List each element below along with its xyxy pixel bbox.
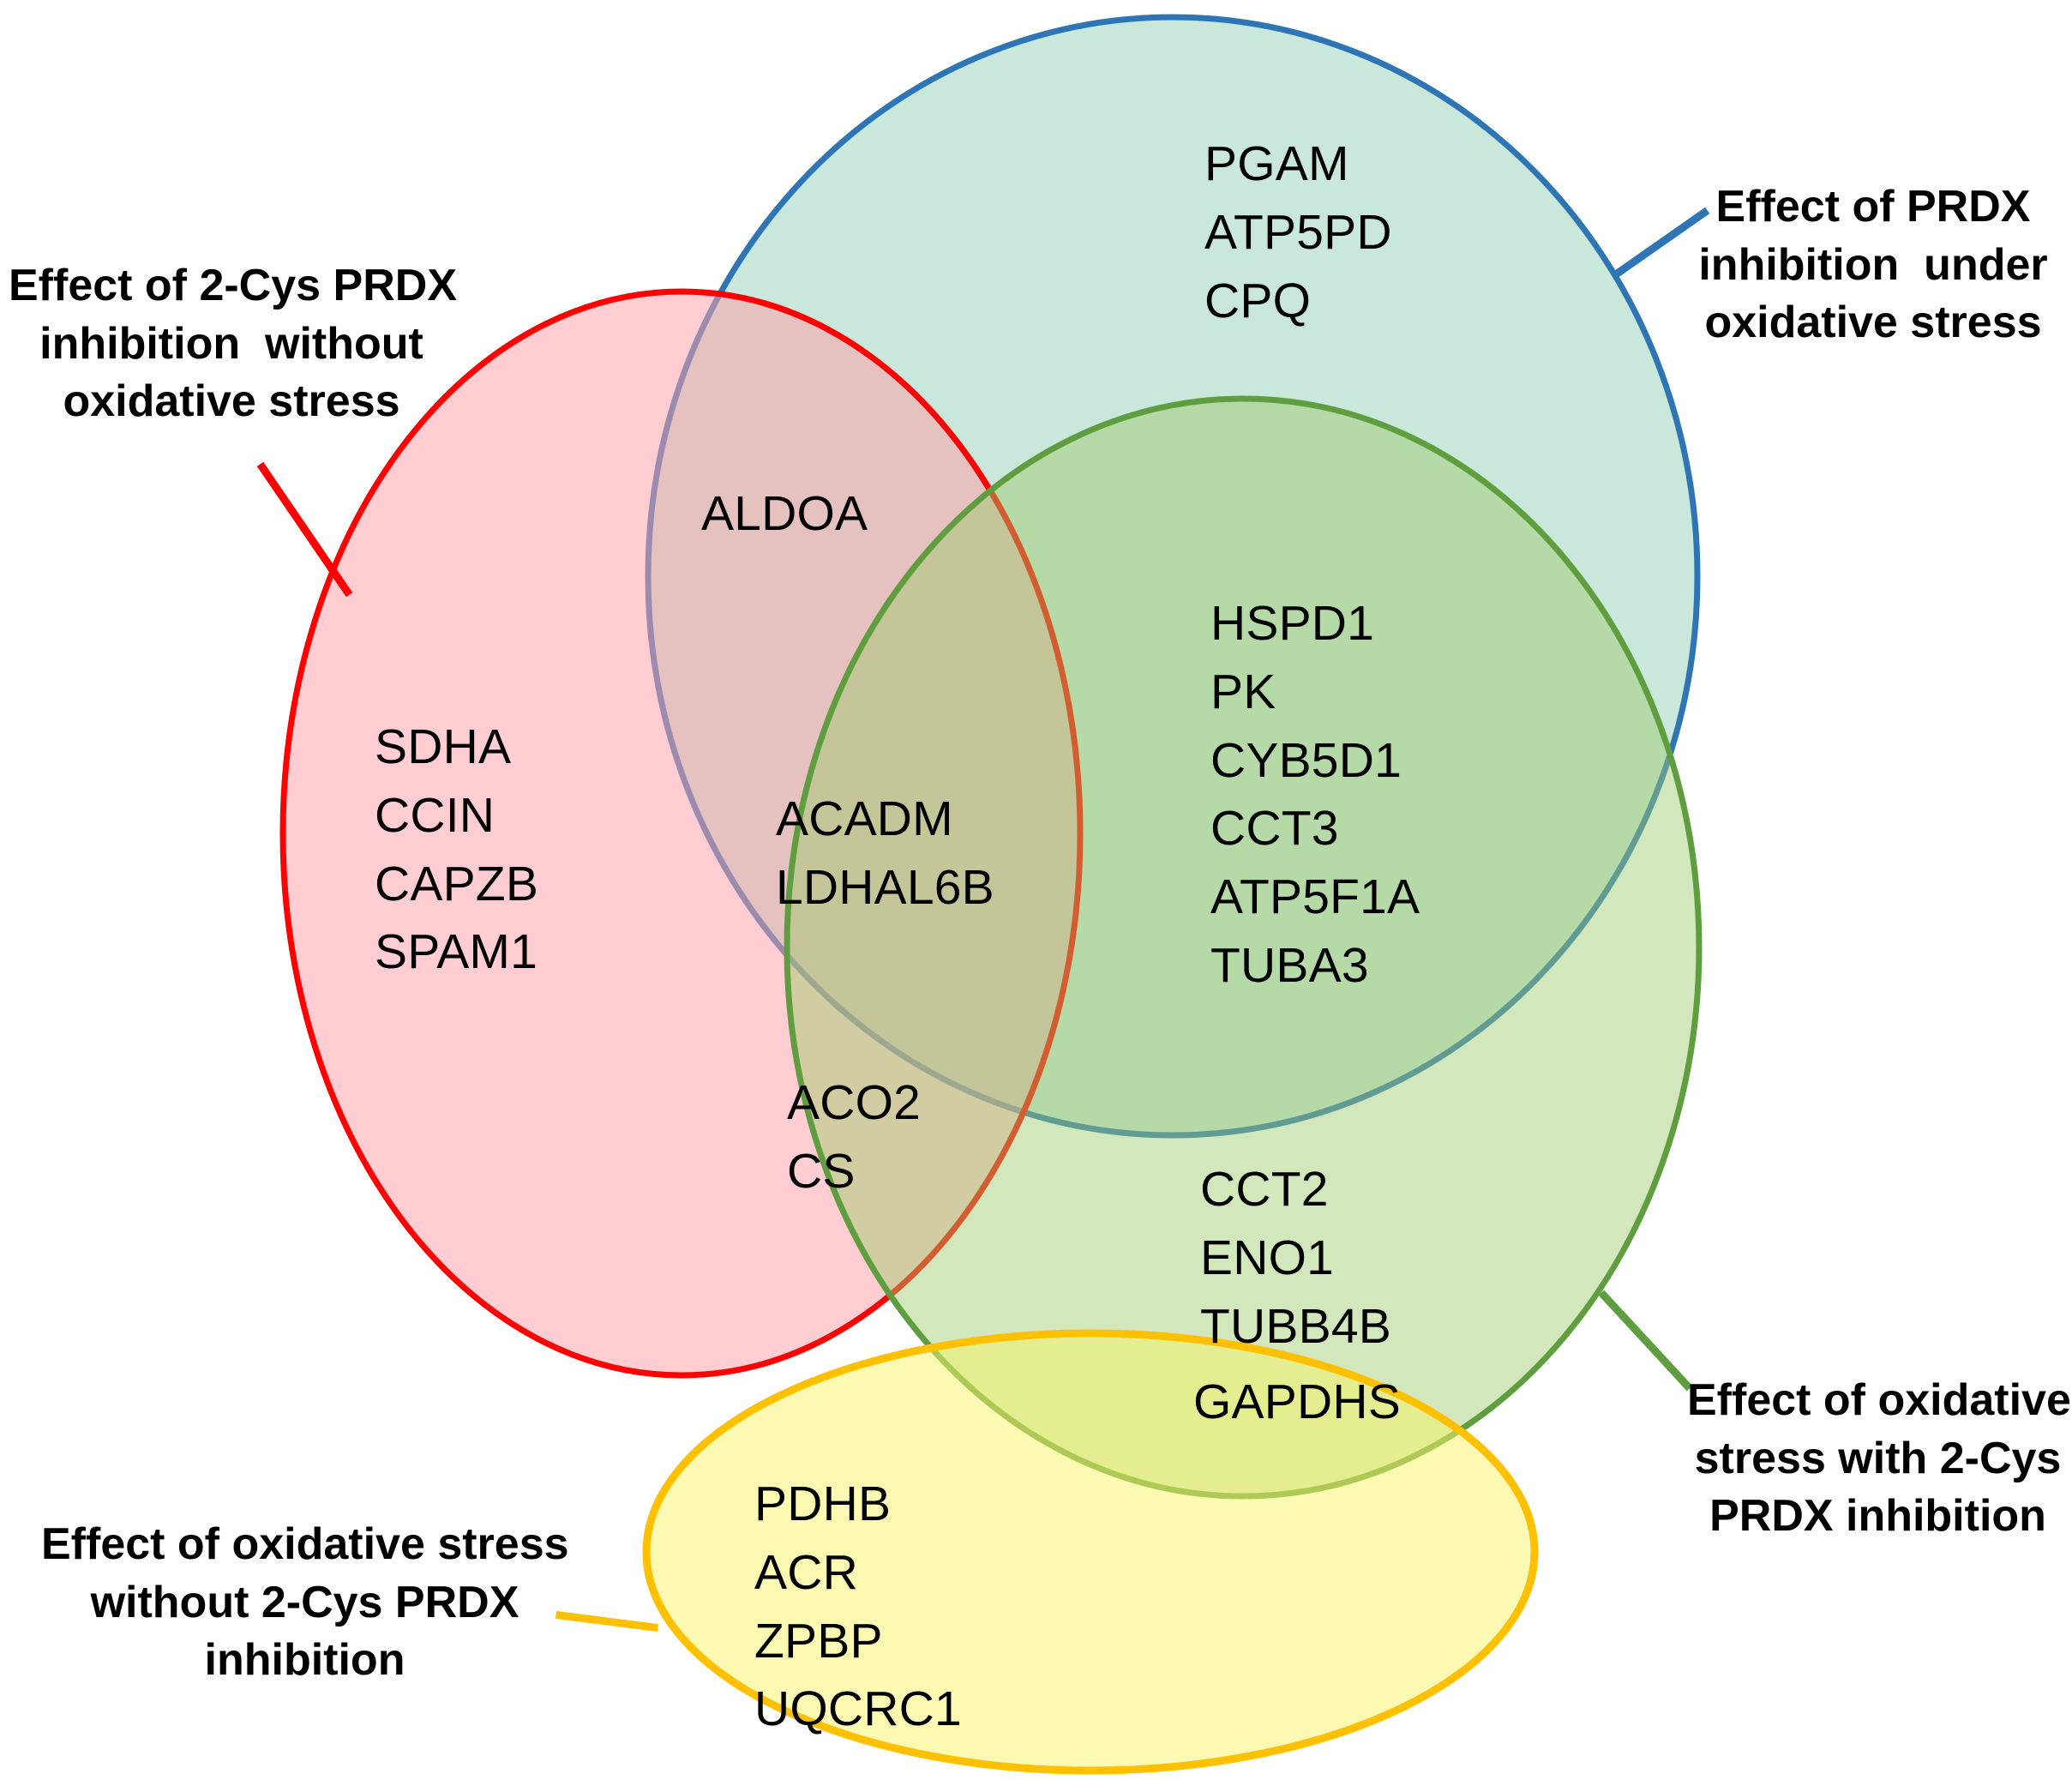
callout-label-red: Effect of 2-Cys PRDX inhibition without … bbox=[9, 257, 454, 431]
callout-label-blue: Effect of PRDX inhibition under oxidativ… bbox=[1680, 178, 2066, 352]
region-genes-red-only: SDHA CCIN CAPZB SPAM1 bbox=[375, 713, 538, 987]
venn-diagram-figure: PGAM ATP5PD CPQ SDHA CCIN CAPZB SPAM1 AL… bbox=[0, 0, 2072, 1780]
callout-label-green: Effect of oxidative stress with 2-Cys PR… bbox=[1687, 1372, 2069, 1546]
leader-line-yellow bbox=[560, 1615, 654, 1627]
leader-line-green bbox=[1604, 1296, 1687, 1386]
region-genes-blue-green: HSPD1 PK CYB5D1 CCT3 ATP5F1A TUBA3 bbox=[1210, 590, 1420, 1001]
region-genes-green-yellow: GAPDHS bbox=[1193, 1368, 1401, 1437]
callout-label-yellow: Effect of oxidative stress without 2-Cys… bbox=[41, 1516, 568, 1690]
region-genes-red-green: ACO2 CS bbox=[787, 1069, 921, 1206]
region-genes-red-blue-green: ACADM LDHAL6B bbox=[776, 785, 994, 923]
region-genes-yellow-only: PDHB ACR ZPBP UQCRC1 bbox=[754, 1470, 962, 1744]
region-genes-green-only: CCT2 ENO1 TUBB4B bbox=[1200, 1156, 1391, 1361]
region-genes-blue-only: PGAM ATP5PD CPQ bbox=[1204, 130, 1392, 335]
region-genes-red-blue: ALDOA bbox=[701, 480, 868, 549]
leader-line-red bbox=[262, 467, 347, 592]
